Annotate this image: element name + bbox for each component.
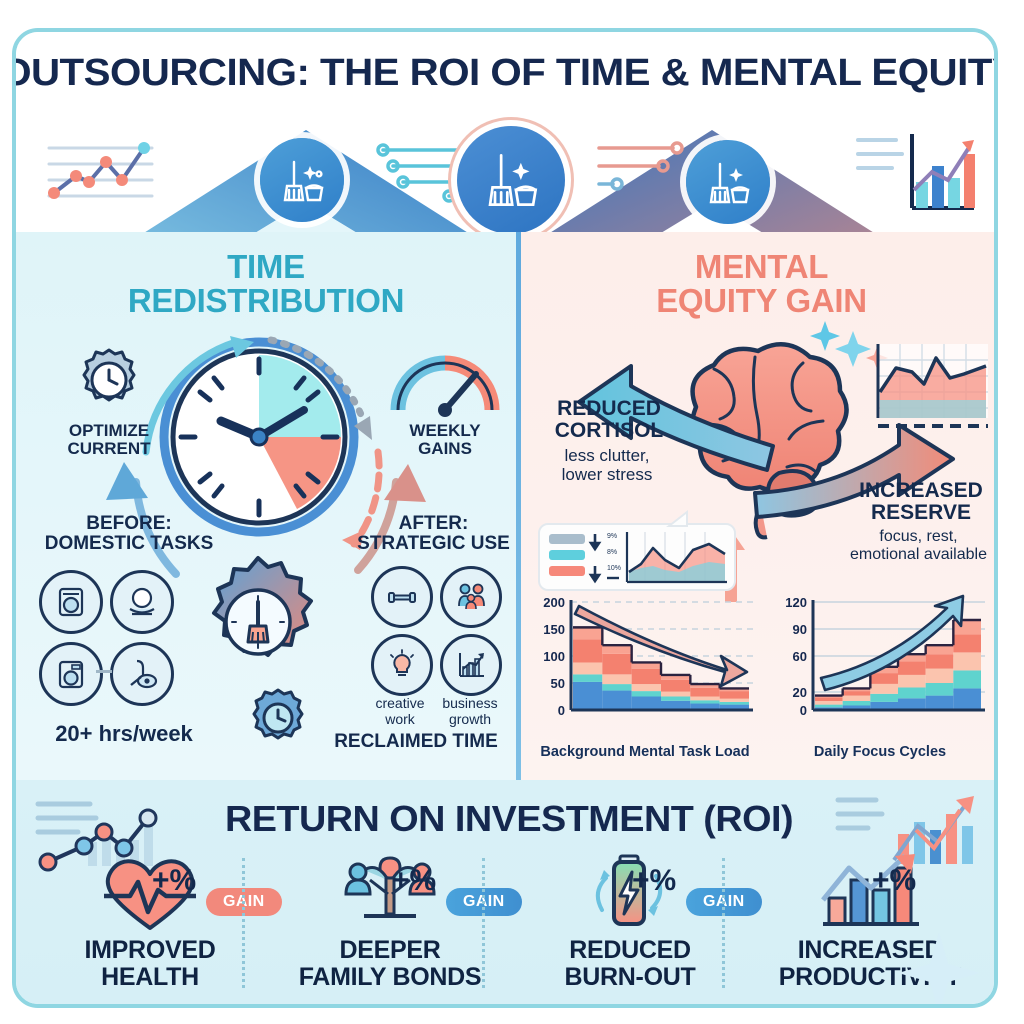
chart-y-ticks: 0206090120 [785, 595, 807, 718]
vacuum-icon [110, 642, 174, 706]
business-growth-caption: business growth [432, 696, 508, 727]
broom-bucket-icon [686, 140, 770, 224]
panel-mental-equity: MENTAL EQUITY GAIN [521, 232, 998, 780]
laundry-machine-icon [39, 642, 103, 706]
hours-stat: 20+ hrs/week [34, 722, 214, 745]
svg-text:0: 0 [800, 703, 807, 718]
weekly-gains-label: WEEKLY GAINS [375, 422, 515, 458]
sliders-icon [371, 142, 471, 200]
chart-daily-focus-cycles: 0206090120 [771, 592, 989, 740]
gauge-icon [390, 352, 500, 418]
broom-bucket-icon [260, 138, 344, 222]
growth-chart-icon [440, 634, 502, 696]
optimize-current-label: OPTIMIZE CURRENT [34, 422, 184, 458]
svg-text:0: 0 [558, 703, 565, 718]
after-label: AFTER: STRATEGIC USE [346, 514, 516, 554]
infographic-canvas: OUTSOURCING: THE ROI OF TIME & MENTAL EQ… [0, 0, 1024, 1024]
increased-reserve-sub: focus, rest, emotional available [831, 528, 998, 564]
reduced-cortisol-sub: less clutter, lower stress [527, 446, 687, 484]
connector-line [96, 670, 112, 673]
roi-item-improved-health[interactable]: IMPROVED HEALTH [34, 854, 266, 990]
roi-plus-3: +% [632, 864, 676, 898]
roi-label-reduced-burnout: REDUCED BURN-OUT [514, 937, 746, 990]
roi-item-deeper-family-bonds[interactable]: DEEPER FAMILY BONDS [274, 854, 506, 990]
roi-label-improved-health: IMPROVED HEALTH [34, 937, 266, 990]
svg-text:90: 90 [793, 622, 807, 637]
panel-right-title-line2: EQUITY GAIN [521, 284, 998, 318]
roi-band: RETURN ON INVESTMENT (ROI) [16, 780, 998, 1008]
panel-left-title: TIME REDISTRIBUTION [16, 250, 516, 317]
reduced-cortisol-label: REDUCED CORTISOL [529, 398, 689, 442]
sliders-icon [591, 140, 691, 198]
bar-chart-up-icon [856, 132, 976, 220]
area-chart-icon [866, 340, 991, 435]
panel-right-title: MENTAL EQUITY GAIN [521, 250, 998, 317]
svg-text:50: 50 [551, 676, 565, 691]
roi-divider-1 [242, 858, 248, 988]
lightbulb-icon [371, 634, 433, 696]
line-chart-icon [44, 138, 164, 208]
chart-1-caption: Background Mental Task Load [527, 744, 763, 760]
gear-broom-icon [188, 554, 328, 694]
panel-time-redistribution: TIME REDISTRIBUTION [16, 232, 516, 780]
roi-plus-2: +% [392, 864, 436, 898]
creative-work-caption: creative work [364, 696, 436, 727]
title-bar: OUTSOURCING: THE ROI OF TIME & MENTAL EQ… [16, 32, 998, 114]
gear-clock-icon [76, 347, 142, 413]
gear-clock-icon [247, 687, 309, 749]
legend-value-2: 8% [607, 549, 617, 556]
svg-text:100: 100 [543, 649, 565, 664]
chart-background-mental-task-load: 050100150200 [531, 592, 759, 740]
roi-divider-2 [482, 858, 488, 988]
svg-text:200: 200 [543, 595, 565, 610]
legend-value-1: 9% [607, 533, 617, 540]
roi-plus-4: +% [872, 864, 916, 898]
roi-plus-1: +% [152, 864, 196, 898]
page-title: OUTSOURCING: THE ROI OF TIME & MENTAL EQ… [12, 52, 998, 95]
roi-label-deeper-family-bonds: DEEPER FAMILY BONDS [274, 937, 506, 990]
washing-machine-icon [39, 570, 103, 634]
outer-frame: OUTSOURCING: THE ROI OF TIME & MENTAL EQ… [12, 28, 998, 1008]
chart-bars [815, 620, 981, 710]
chart-y-ticks: 050100150200 [543, 595, 565, 718]
roi-divider-3 [722, 858, 728, 988]
legend-inset: 9% 8% 10% [537, 520, 737, 592]
chart-2-caption: Daily Focus Cycles [769, 744, 991, 760]
svg-text:20: 20 [793, 685, 807, 700]
sparkle-icon [894, 928, 984, 1008]
legend-value-3: 10% [607, 565, 621, 572]
dumbbell-icon [371, 566, 433, 628]
reclaimed-time-label: RECLAIMED TIME [316, 732, 516, 752]
before-label: BEFORE: DOMESTIC TASKS [24, 514, 234, 554]
increased-reserve-label: INCREASED RESERVE [841, 480, 998, 524]
dishes-icon [110, 570, 174, 634]
svg-text:60: 60 [793, 649, 807, 664]
roi-item-reduced-burnout[interactable]: REDUCED BURN-OUT [514, 854, 746, 990]
panel-right-title-line1: MENTAL [521, 250, 998, 284]
broom-bucket-icon [457, 126, 565, 234]
svg-text:150: 150 [543, 622, 565, 637]
family-icon [440, 566, 502, 628]
panel-left-title-line1: TIME [16, 250, 516, 284]
svg-text:120: 120 [785, 595, 807, 610]
